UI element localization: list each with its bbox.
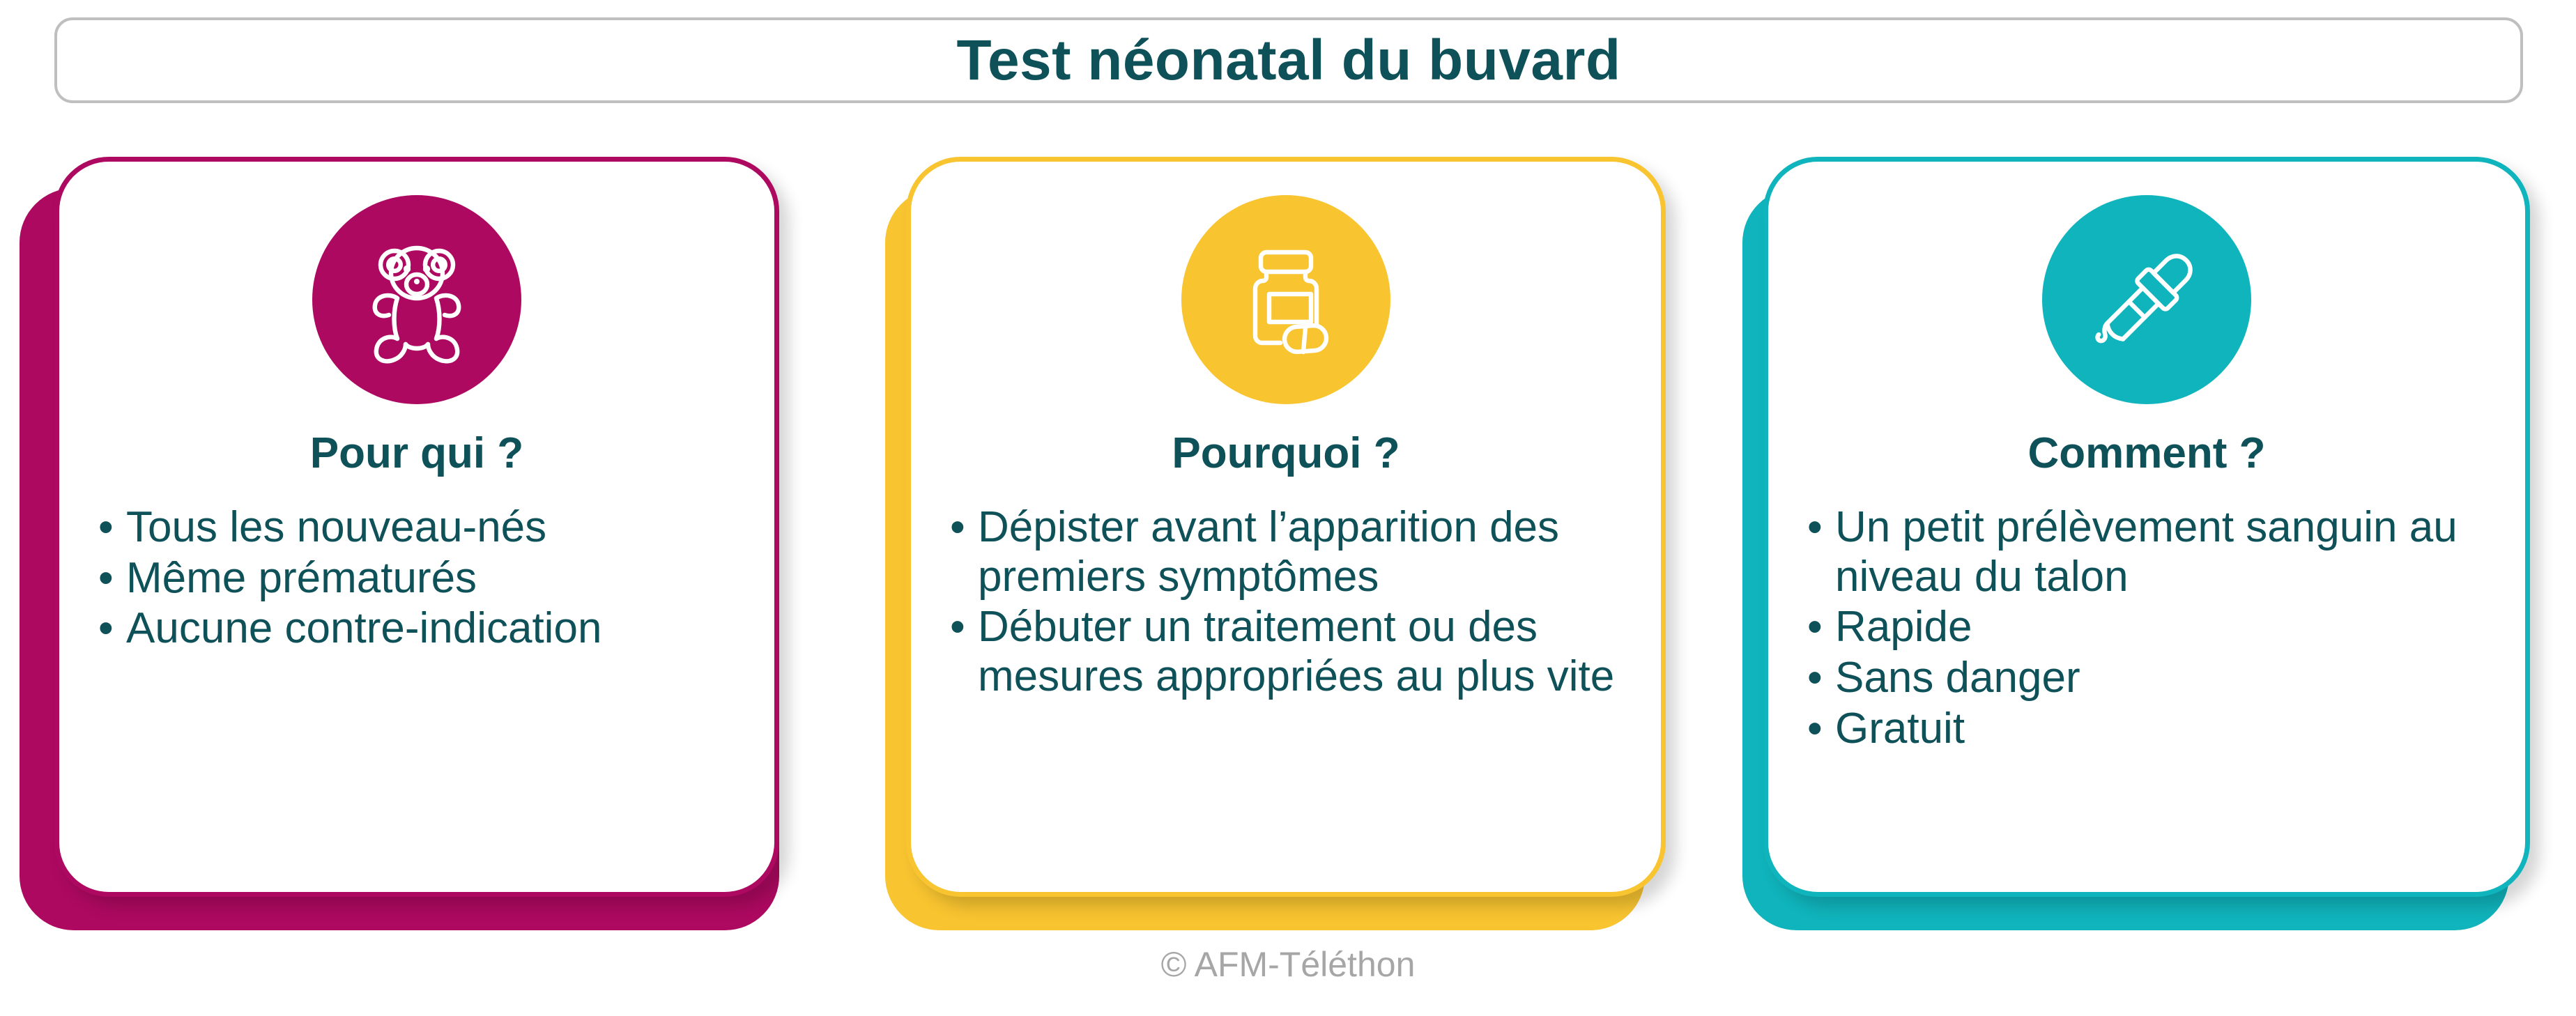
card-row: Pour qui ? Tous les nouveau-nés Même pré… [0,157,2576,923]
list-item: Débuter un traitement ou des mesures app… [947,603,1641,701]
card-pourquoi[interactable]: Pourquoi ? Dépister avant l’apparition d… [906,157,1673,923]
list-item: Aucune contre-indication [95,604,755,654]
list-item: Tous les nouveau-nés [95,503,755,553]
list-item: Dépister avant l’apparition des premiers… [947,503,1641,601]
card-heading: Pour qui ? [59,432,774,475]
page-title: Test néonatal du buvard [956,32,1620,89]
card-bullet-list: Dépister avant l’apparition des premiers… [947,503,1641,703]
list-item: Même prématurés [95,554,755,603]
copyright-notice: © AFM-Téléthon [0,944,2576,985]
card-bullet-list: Un petit prélèvement sanguin au niveau d… [1804,503,2506,755]
pipette-dropper-icon [2042,195,2251,404]
list-item: Gratuit [1804,705,2506,754]
list-item: Rapide [1804,603,2506,652]
card-heading: Pourquoi ? [911,432,1661,475]
card-body: Pour qui ? Tous les nouveau-nés Même pré… [54,157,779,897]
pill-bottle-icon [1181,195,1390,404]
teddy-bear-icon [312,195,521,404]
page-title-box: Test néonatal du buvard [54,17,2523,103]
list-item: Sans danger [1804,654,2506,703]
card-body: Comment ? Un petit prélèvement sanguin a… [1763,157,2530,897]
card-bullet-list: Tous les nouveau-nés Même prématurés Auc… [95,503,755,655]
list-item: Un petit prélèvement sanguin au niveau d… [1804,503,2506,601]
card-comment[interactable]: Comment ? Un petit prélèvement sanguin a… [1763,157,2530,923]
card-heading: Comment ? [1768,432,2525,475]
card-body: Pourquoi ? Dépister avant l’apparition d… [906,157,1666,897]
card-pour-qui[interactable]: Pour qui ? Tous les nouveau-nés Même pré… [54,157,821,923]
